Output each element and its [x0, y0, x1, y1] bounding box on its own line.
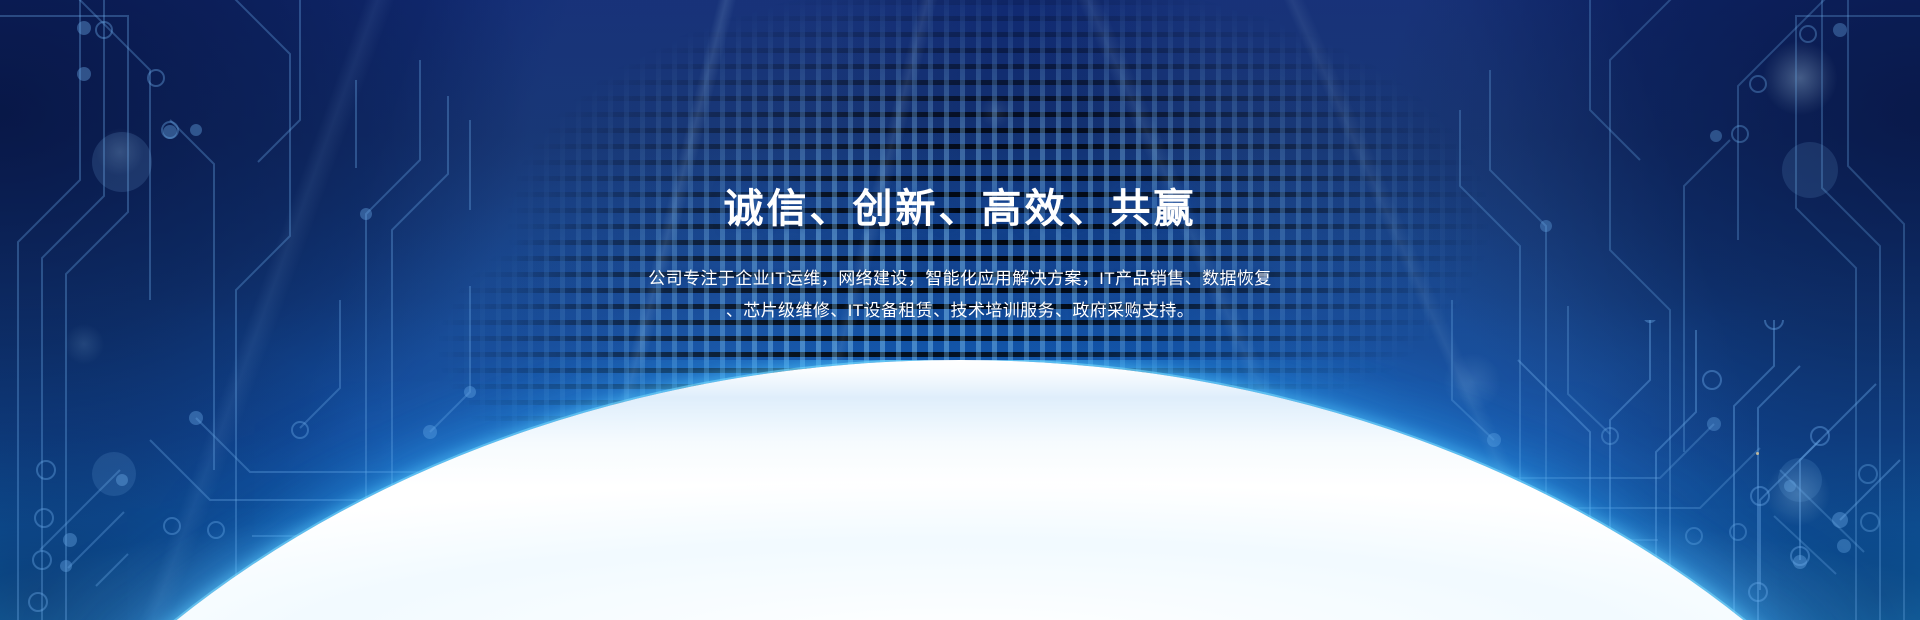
banner-subtitle: 公司专注于企业IT运维，网络建设，智能化应用解决方案，IT产品销售、数据恢复 、… — [590, 263, 1330, 327]
hero-banner: 诚信、创新、高效、共赢 公司专注于企业IT运维，网络建设，智能化应用解决方案，I… — [0, 0, 1920, 620]
banner-subtitle-line-1: 公司专注于企业IT运维，网络建设，智能化应用解决方案，IT产品销售、数据恢复 — [590, 263, 1330, 295]
surface-speck — [1756, 452, 1759, 455]
banner-headline: 诚信、创新、高效、共赢 — [0, 186, 1920, 233]
banner-content: 诚信、创新、高效、共赢 公司专注于企业IT运维，网络建设，智能化应用解决方案，I… — [0, 186, 1920, 327]
globe-atmosphere-haze — [0, 450, 1920, 620]
earth-horizon-arc — [0, 360, 1920, 620]
banner-subtitle-line-2: 、芯片级维修、IT设备租赁、技术培训服务、政府采购支持。 — [590, 295, 1330, 327]
